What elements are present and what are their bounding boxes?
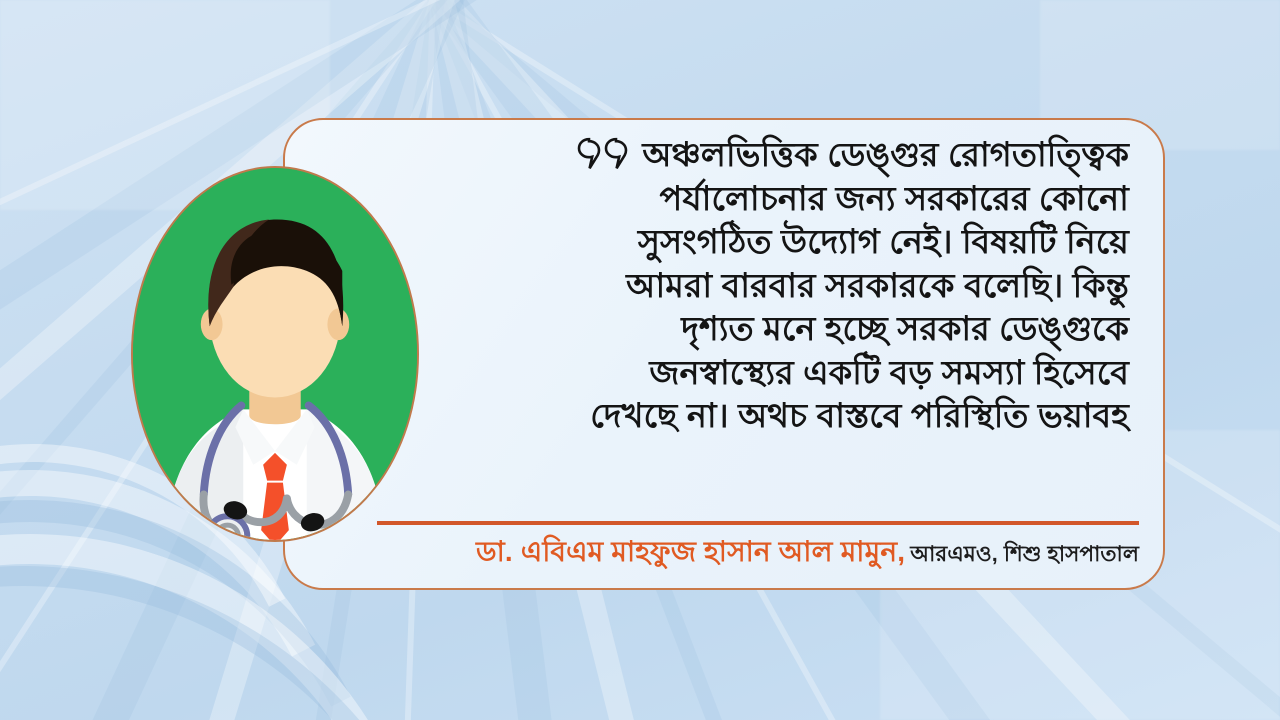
attribution: ডা. এবিএম মাহফুজ হাসান আল মামুন,আরএমও, শ… — [325, 538, 1139, 566]
quote-text: অঞ্চলভিত্তিক ডেঙ্গুর রোগতাত্ত্বিক পর্যাল… — [315, 134, 1129, 439]
attribution-name: ডা. এবিএম মাহফুজ হাসান আল মামুন, — [476, 536, 905, 567]
attribution-role: আরএমও, শিশু হাসপাতাল — [910, 542, 1139, 566]
attribution-divider — [377, 521, 1139, 525]
doctor-avatar — [131, 166, 419, 542]
